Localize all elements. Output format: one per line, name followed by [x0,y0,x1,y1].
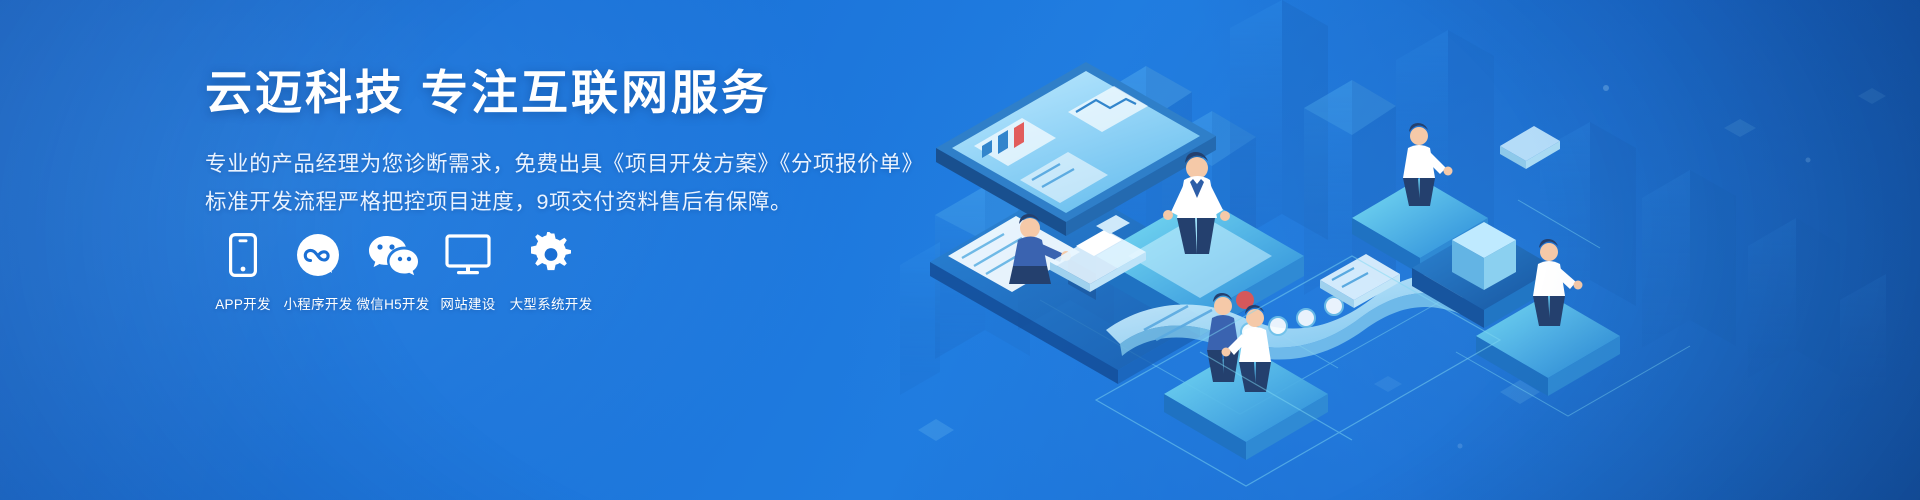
service-item-wechat[interactable]: 微信H5开发 [355,232,431,313]
service-label-website: 网站建设 [440,293,495,313]
subtitle-line-2: 标准开发流程严格把控项目进度，9项交付资料售后有保障。 [205,183,945,221]
hero-banner: 云迈科技 专注互联网服务 专业的产品经理为您诊断需求，免费出具《项目开发方案》《… [0,0,1920,500]
service-item-miniprogram[interactable]: 小程序开发 [281,232,355,313]
mobile-phone-icon [229,232,257,278]
gear-icon [528,232,574,278]
hero-copy: 云迈科技 专注互联网服务 专业的产品经理为您诊断需求，免费出具《项目开发方案》《… [205,64,945,221]
isometric-illustration [900,0,1920,500]
service-label-wechat: 微信H5开发 [356,293,429,313]
hero-subtitle: 专业的产品经理为您诊断需求，免费出具《项目开发方案》《分项报价单》 标准开发流程… [205,145,945,222]
service-item-app[interactable]: APP开发 [205,232,281,313]
service-label-app: APP开发 [215,293,271,313]
service-item-system[interactable]: 大型系统开发 [505,232,597,313]
wechat-icon [367,232,419,278]
service-icon-row: APP开发 小程序开发 [205,232,597,313]
mini-program-icon [296,232,340,278]
service-item-website[interactable]: 网站建设 [431,232,505,313]
service-label-system: 大型系统开发 [510,293,593,313]
page-title: 云迈科技 专注互联网服务 [205,64,945,123]
service-label-miniprogram: 小程序开发 [284,293,353,313]
monitor-icon [445,232,491,278]
subtitle-line-1: 专业的产品经理为您诊断需求，免费出具《项目开发方案》《分项报价单》 [205,145,945,183]
